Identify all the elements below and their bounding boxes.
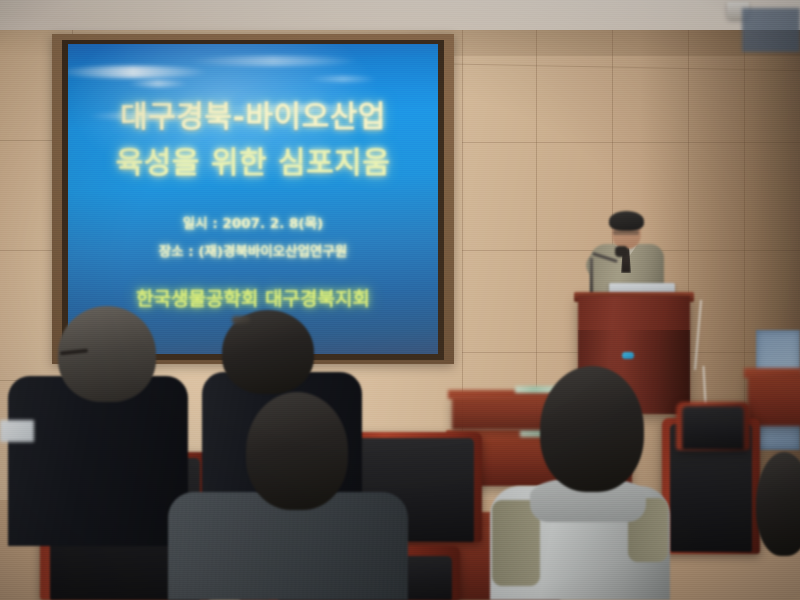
slide-content: 대구경북-바이오산업 육성을 위한 심포지움 일시 : 2007. 2. 8(목… — [68, 44, 438, 354]
chair-back-right-upper-pad — [682, 406, 744, 450]
audience-head — [540, 366, 644, 492]
audience-head — [246, 392, 348, 510]
audience-head — [756, 452, 800, 556]
handheld-paper — [0, 420, 34, 442]
projection-screen: 대구경북-바이오산업 육성을 위한 심포지움 일시 : 2007. 2. 8(목… — [68, 44, 438, 354]
hair-highlight — [232, 316, 250, 324]
slide-venue-text: 장소 : (재)경북바이오산업연구원 — [68, 240, 438, 260]
window-upper — [742, 8, 800, 52]
speaker-eyeglasses-icon — [613, 230, 639, 235]
photo-scene: 대구경북-바이오산업 육성을 위한 심포지움 일시 : 2007. 2. 8(목… — [0, 0, 800, 600]
speaker-hand — [615, 246, 628, 257]
slide-host-text: 한국생물공학회 대구경북지회 — [68, 284, 438, 311]
speaker-hair — [609, 211, 644, 231]
slide-date-text: 일시 : 2007. 2. 8(목) — [68, 212, 438, 232]
slide-title-line-1: 대구경북-바이오산업 — [68, 92, 438, 136]
desk-far-right-top — [744, 368, 800, 378]
slide-title-line-2: 육성을 위한 심포지움 — [68, 138, 438, 182]
blue-hair-clip — [622, 352, 634, 359]
